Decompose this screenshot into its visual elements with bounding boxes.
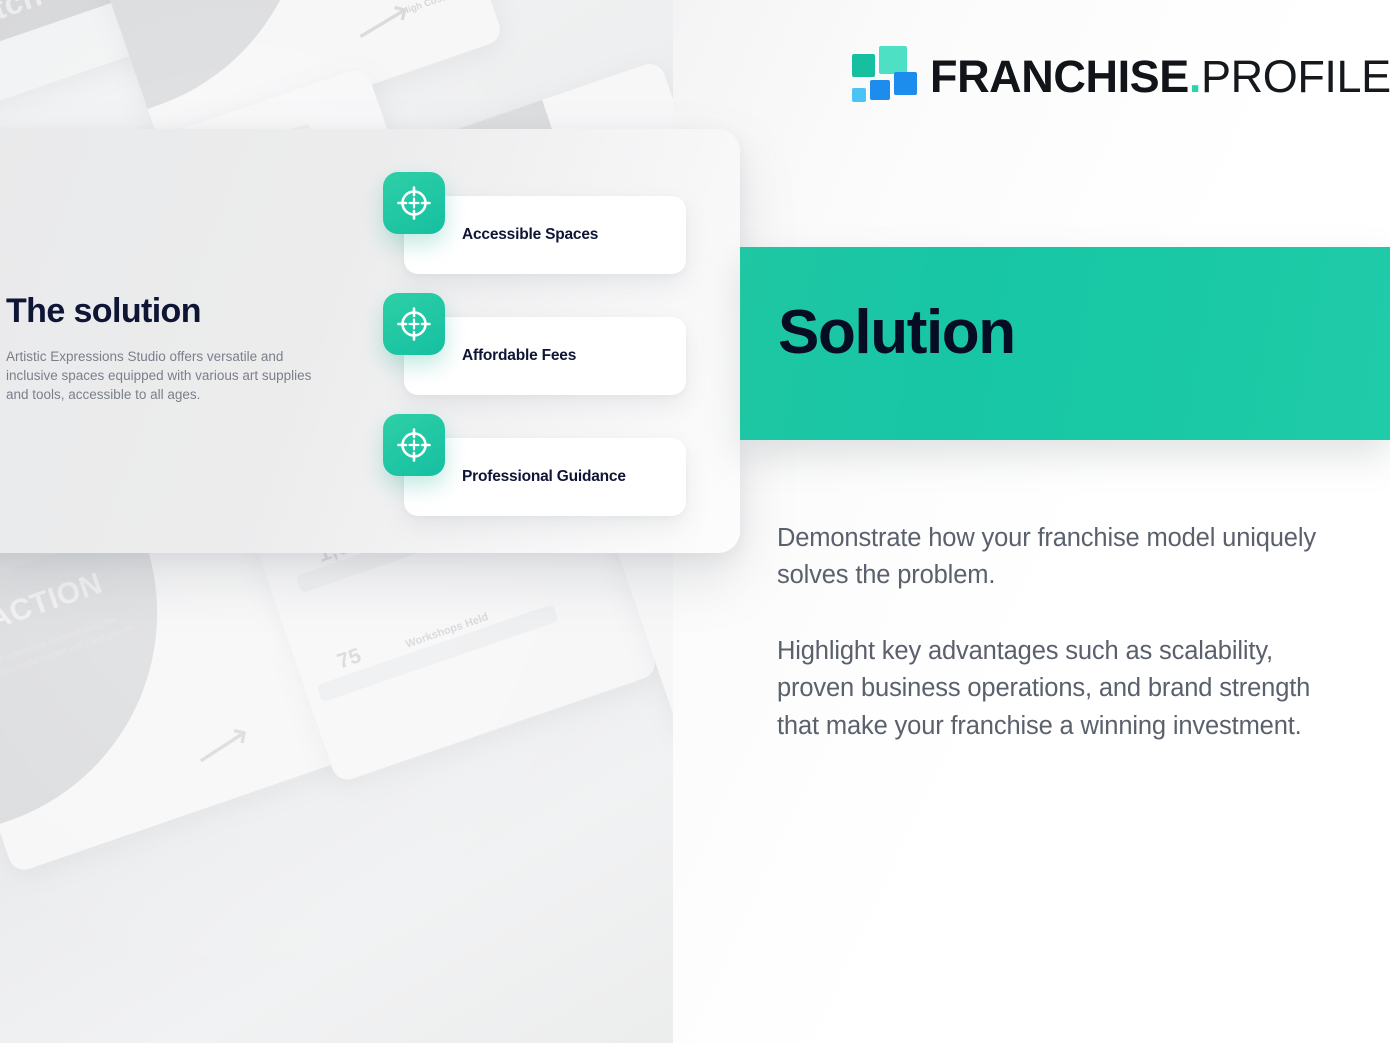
section-title-band: Solution [740, 247, 1390, 440]
brand-name-primary: FRANCHISE [930, 51, 1189, 102]
crosshair-target-icon [383, 414, 445, 476]
logo-square-teal-dark [852, 54, 875, 77]
description-paragraph-2: Highlight key advantages such as scalabi… [777, 633, 1317, 745]
description-paragraph-1: Demonstrate how your franchise model uni… [777, 520, 1317, 595]
logo-square-blue [870, 80, 890, 100]
feature-label: Professional Guidance [462, 468, 626, 486]
feature-card-affordable-fees[interactable]: Affordable Fees [404, 317, 686, 395]
feature-label: Accessible Spaces [462, 226, 598, 244]
slide-preview-card: The solution Artistic Expressions Studio… [0, 129, 740, 553]
logo-square-blue-2 [894, 72, 917, 95]
logo-squares-icon [851, 47, 907, 105]
brand-name-dot: . [1189, 51, 1201, 102]
feature-card-accessible-spaces[interactable]: Accessible Spaces [404, 196, 686, 274]
crosshair-target-icon [383, 172, 445, 234]
montage-arrow-icon: ⟶ [186, 711, 259, 781]
brand-name-secondary: PROFILES [1201, 51, 1390, 102]
logo-square-blue-light [852, 88, 866, 102]
feature-card-professional-guidance[interactable]: Professional Guidance [404, 438, 686, 516]
page-title: Solution [778, 297, 1015, 368]
preview-heading: The solution [6, 292, 201, 331]
brand-wordmark: FRANCHISE.PROFILES [930, 54, 1390, 99]
logo-square-teal-light [879, 46, 907, 74]
crosshair-target-icon [383, 293, 445, 355]
brand-logo[interactable]: FRANCHISE.PROFILES [851, 45, 1390, 107]
preview-subtext: Artistic Expressions Studio offers versa… [6, 347, 326, 404]
slide-canvas: MARKET Growing demand for creative space… [0, 0, 1390, 1043]
montage-feature-label: High Costs [400, 0, 474, 19]
feature-label: Affordable Fees [462, 347, 576, 365]
section-description: Demonstrate how your franchise model uni… [777, 520, 1317, 745]
